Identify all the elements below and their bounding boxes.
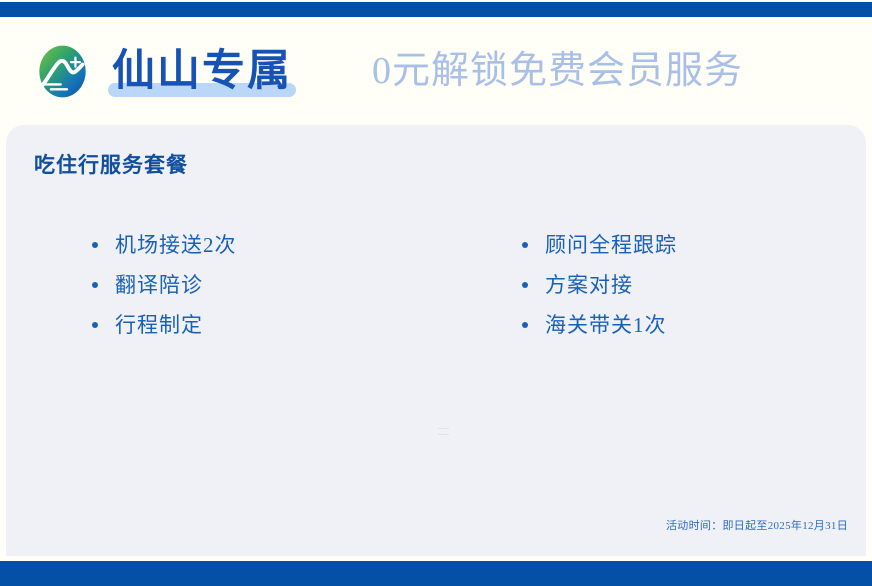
bottom-accent-bar (0, 561, 872, 586)
benefit-label: 翻译陪诊 (115, 275, 203, 296)
promo-headline: 0元解锁免费会员服务 (372, 52, 743, 90)
bullet-icon (92, 322, 98, 328)
benefit-label: 行程制定 (115, 315, 203, 336)
benefit-column-right: 顾问全程跟踪 方案对接 海关带关1次 (436, 225, 866, 345)
brand-block: 仙山专属 (34, 43, 296, 100)
benefit-column-left: 机场接送2次 翻译陪诊 行程制定 (6, 225, 436, 345)
package-title: 吃住行服务套餐 (34, 149, 188, 179)
list-item: 方案对接 (522, 265, 866, 305)
bullet-icon (92, 242, 98, 248)
list-item: 顾问全程跟踪 (522, 225, 866, 265)
benefit-label: 机场接送2次 (115, 235, 237, 256)
benefit-columns: 机场接送2次 翻译陪诊 行程制定 顾问全程跟踪 (6, 225, 866, 345)
mountain-plus-circle-icon (34, 43, 91, 100)
bullet-icon (522, 282, 528, 288)
poster-header: 仙山专属 0元解锁免费会员服务 (0, 17, 872, 125)
benefit-label: 顾问全程跟踪 (545, 235, 677, 256)
bullet-icon (92, 282, 98, 288)
benefit-label: 方案对接 (545, 275, 633, 296)
campaign-period-note: 活动时间：即日起至2025年12月31日 (666, 517, 848, 533)
column-divider-mark (438, 428, 449, 435)
brand-title: 仙山专属 (112, 46, 292, 96)
list-item: 机场接送2次 (92, 225, 436, 265)
benefit-label: 海关带关1次 (545, 315, 667, 336)
brand-title-wrap: 仙山专属 (108, 50, 296, 93)
promo-poster: 仙山专属 0元解锁免费会员服务 吃住行服务套餐 机场接送2次 翻译陪诊 (0, 0, 872, 586)
top-accent-bar (0, 2, 872, 17)
benefit-list-left: 机场接送2次 翻译陪诊 行程制定 (92, 225, 436, 345)
list-item: 行程制定 (92, 305, 436, 345)
list-item: 海关带关1次 (522, 305, 866, 345)
bullet-icon (522, 242, 528, 248)
package-card: 吃住行服务套餐 机场接送2次 翻译陪诊 行程制定 (6, 125, 866, 556)
bullet-icon (522, 322, 528, 328)
benefit-list-right: 顾问全程跟踪 方案对接 海关带关1次 (522, 225, 866, 345)
list-item: 翻译陪诊 (92, 265, 436, 305)
